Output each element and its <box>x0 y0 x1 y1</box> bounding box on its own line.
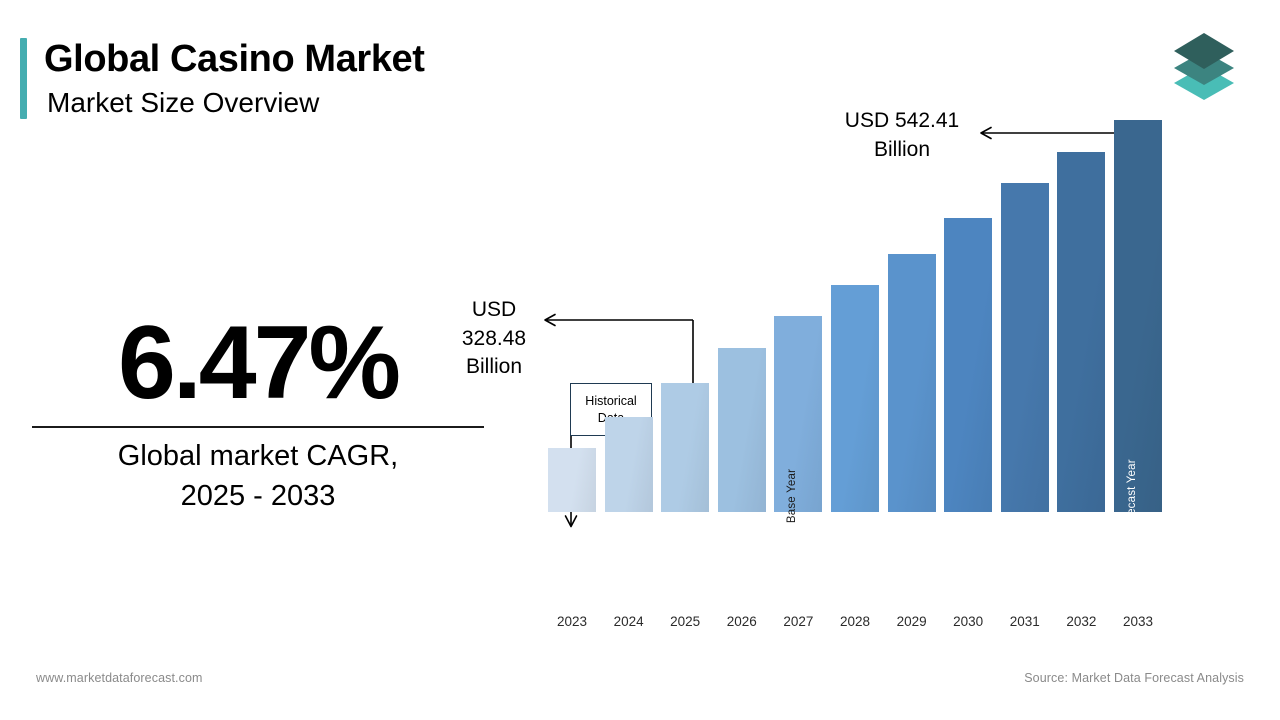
bar-2029[interactable] <box>888 254 936 512</box>
bar-chart: 2023202420252026Base Year202720282029203… <box>540 190 1200 630</box>
stacked-diamonds-logo <box>1166 26 1242 106</box>
bar-fill-2024 <box>605 417 653 512</box>
bar-2024[interactable] <box>605 417 653 512</box>
callout-end-line-2: Billion <box>812 136 992 165</box>
callout-start-line-1: USD <box>444 296 544 325</box>
x-axis-label-2029: 2029 <box>888 614 936 629</box>
bar-2027[interactable]: Base Year <box>774 316 822 512</box>
callout-end-value: USD 542.41 Billion <box>812 107 992 164</box>
bar-fill-2027 <box>774 316 822 512</box>
bar-fill-2031 <box>1001 183 1049 512</box>
callout-start-line-3: Billion <box>444 353 544 382</box>
x-axis-label-2031: 2031 <box>1001 614 1049 629</box>
bar-annotation-2027: Base Year <box>786 469 798 523</box>
x-axis-label-2025: 2025 <box>661 614 709 629</box>
x-axis-label-2033: 2033 <box>1114 614 1162 629</box>
bar-2031[interactable] <box>1001 183 1049 512</box>
accent-bar <box>20 38 27 119</box>
footer-source: Source: Market Data Forecast Analysis <box>1024 671 1244 685</box>
title-block: Global Casino Market Market Size Overvie… <box>44 38 425 119</box>
cagr-caption: Global market CAGR, 2025 - 2033 <box>32 432 484 516</box>
callout-end-line-1: USD 542.41 <box>812 107 992 136</box>
page-title: Global Casino Market <box>44 38 425 81</box>
footer-website[interactable]: www.marketdataforecast.com <box>36 671 203 685</box>
bar-annotation-2033: Forecast Year <box>1126 459 1138 533</box>
bar-2030[interactable] <box>944 218 992 512</box>
bar-2032[interactable] <box>1057 152 1105 512</box>
bar-fill-2025 <box>661 383 709 512</box>
callout-start-value: USD 328.48 Billion <box>444 296 544 382</box>
x-axis-label-2030: 2030 <box>944 614 992 629</box>
cagr-caption-line-2: 2025 - 2033 <box>32 476 484 516</box>
cagr-divider <box>32 426 484 428</box>
bar-2026[interactable] <box>718 348 766 512</box>
bar-fill-2030 <box>944 218 992 512</box>
x-axis-label-2023: 2023 <box>548 614 596 629</box>
bar-2033[interactable]: Forecast Year <box>1114 120 1162 512</box>
cagr-block: 6.47% Global market CAGR, 2025 - 2033 <box>32 308 484 516</box>
x-axis-label-2032: 2032 <box>1057 614 1105 629</box>
bar-fill-2023 <box>548 448 596 512</box>
bar-2023[interactable] <box>548 448 596 512</box>
x-axis-label-2027: 2027 <box>774 614 822 629</box>
bar-fill-2029 <box>888 254 936 512</box>
x-axis-label-2024: 2024 <box>605 614 653 629</box>
cagr-caption-line-1: Global market CAGR, <box>32 436 484 476</box>
bar-fill-2033 <box>1114 120 1162 512</box>
header: Global Casino Market Market Size Overvie… <box>20 38 425 119</box>
bar-fill-2026 <box>718 348 766 512</box>
page-subtitle: Market Size Overview <box>47 86 425 120</box>
x-axis-label-2026: 2026 <box>718 614 766 629</box>
infographic-canvas: Global Casino Market Market Size Overvie… <box>0 0 1280 720</box>
cagr-value: 6.47% <box>32 308 484 418</box>
bar-fill-2028 <box>831 285 879 512</box>
callout-start-line-2: 328.48 <box>444 325 544 354</box>
bar-2025[interactable] <box>661 383 709 512</box>
x-axis-label-2028: 2028 <box>831 614 879 629</box>
bar-2028[interactable] <box>831 285 879 512</box>
bar-fill-2032 <box>1057 152 1105 512</box>
